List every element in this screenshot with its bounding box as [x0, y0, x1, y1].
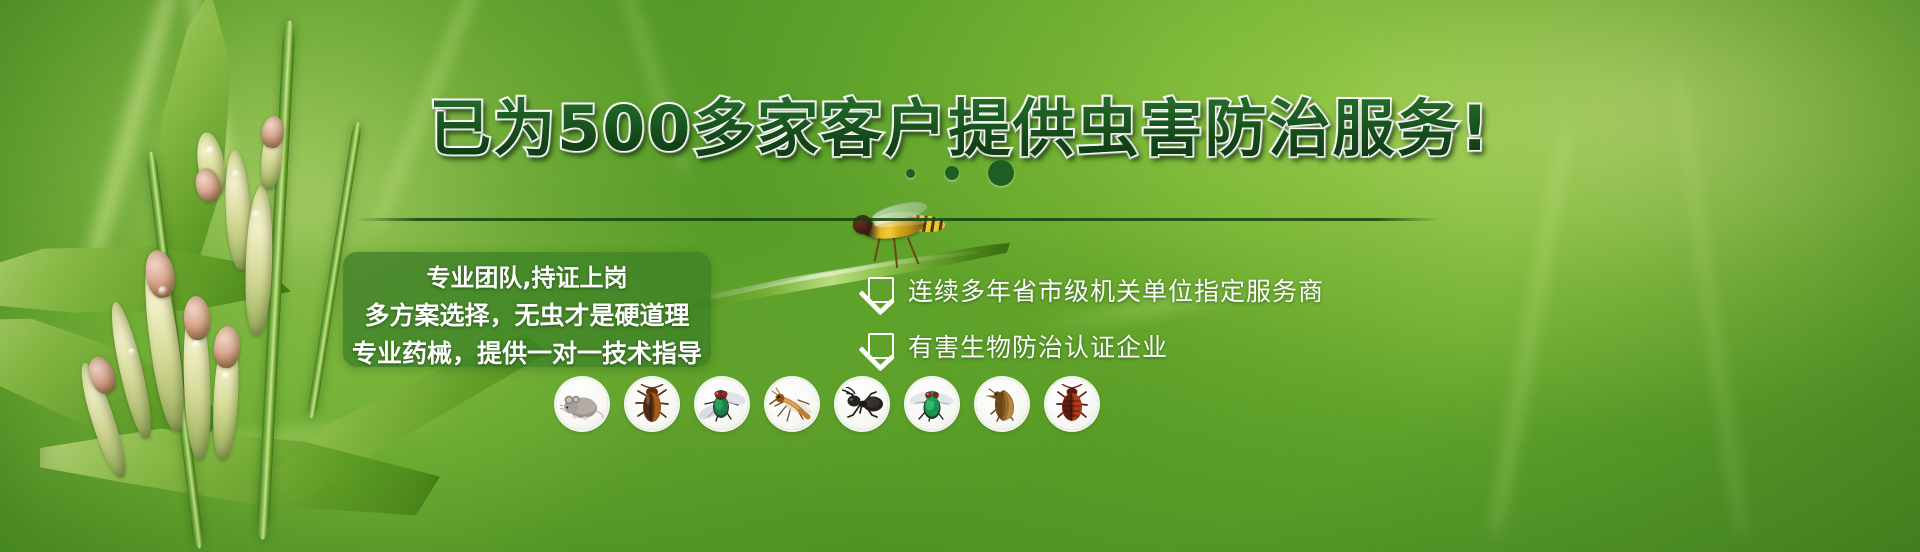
- dot-medium-icon: [945, 166, 959, 180]
- mouse-icon[interactable]: [556, 378, 608, 430]
- selling-points-text: 专业团队,持证上岗 多方案选择，无虫才是硬道理 专业药械，提供一对一技术指导: [343, 256, 711, 368]
- checkbox-checked-icon: [868, 277, 894, 303]
- bedbug-icon[interactable]: [1046, 378, 1098, 430]
- headline-dot-group: [0, 160, 1920, 186]
- credential-label: 有害生物防治认证企业: [908, 328, 1168, 364]
- list-item: 连续多年省市级机关单位指定服务商: [868, 272, 1324, 308]
- selling-point-line-1: 专业团队,持证上岗: [426, 258, 627, 293]
- page-title: 已为500多家客户提供虫害防治服务!: [0, 78, 1920, 168]
- plant-highlight: [192, 340, 201, 349]
- promo-banner: 已为500多家客户提供虫害防治服务! 已为500多家客户提供虫害防治服务! 专业…: [0, 0, 1920, 552]
- pest-icon-row: [556, 378, 1098, 430]
- list-item: 有害生物防治认证企业: [868, 328, 1324, 364]
- dot-large-icon: [988, 160, 1014, 186]
- selling-point-line-3: 专业药械，提供一对一技术指导: [352, 334, 702, 370]
- selling-point-line-2: 多方案选择，无虫才是硬道理: [364, 296, 689, 332]
- plant-highlight: [128, 348, 136, 356]
- credential-label: 连续多年省市级机关单位指定服务商: [908, 272, 1324, 308]
- flea-icon[interactable]: [976, 378, 1028, 430]
- plant-highlight: [252, 210, 261, 219]
- hoverfly-illustration: [845, 196, 975, 266]
- credentials-list: 连续多年省市级机关单位指定服务商 有害生物防治认证企业: [868, 272, 1324, 384]
- dot-small-icon: [906, 169, 915, 178]
- plant-highlight: [158, 286, 168, 296]
- housefly-icon[interactable]: [696, 378, 748, 430]
- mosquito-icon[interactable]: [766, 378, 818, 430]
- cockroach-icon[interactable]: [626, 378, 678, 430]
- plant-highlight: [222, 372, 230, 380]
- ant-icon[interactable]: [836, 378, 888, 430]
- checkbox-checked-icon: [868, 333, 894, 359]
- divider-line: [355, 218, 1440, 221]
- blowfly-icon[interactable]: [906, 378, 958, 430]
